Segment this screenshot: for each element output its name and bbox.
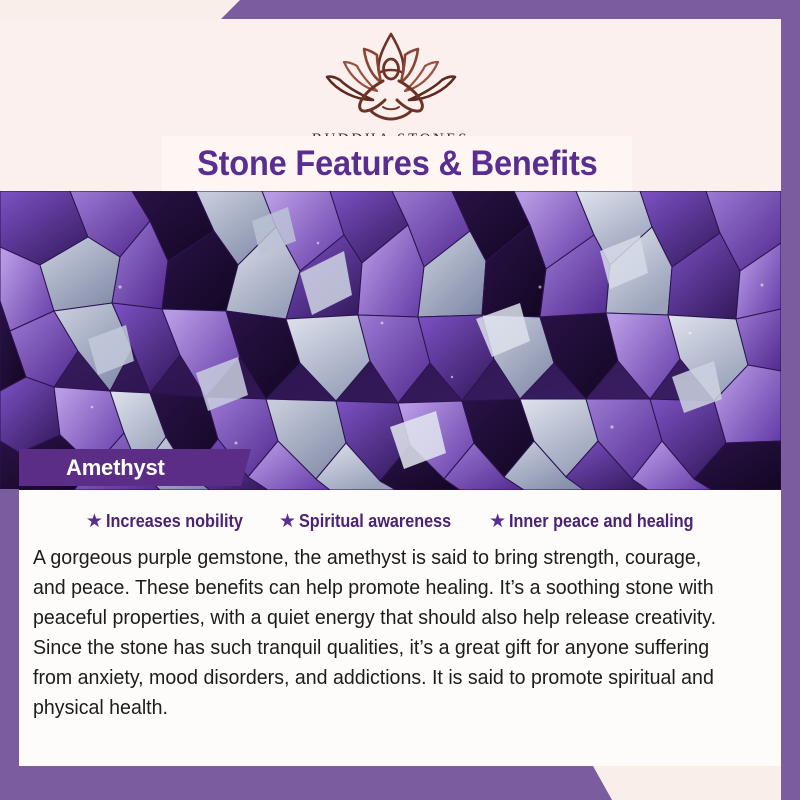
star-icon: ★ bbox=[279, 512, 296, 531]
stone-name: Amethyst bbox=[19, 455, 165, 481]
benefit-item: ★ Inner peace and healing bbox=[489, 511, 714, 532]
brand-logo: BUDDHA STONES bbox=[0, 25, 781, 148]
stone-name-banner: Amethyst bbox=[19, 449, 251, 486]
page-title: Stone Features & Benefits bbox=[197, 144, 598, 184]
crystal-illustration bbox=[0, 191, 781, 490]
benefits-list: ★ Increases nobility ★ Spiritual awarene… bbox=[19, 490, 781, 532]
content-section: ★ Increases nobility ★ Spiritual awarene… bbox=[19, 490, 781, 766]
top-accent-band bbox=[0, 0, 800, 19]
title-plate: Stone Features & Benefits bbox=[162, 136, 632, 191]
benefit-item: ★ Spiritual awareness bbox=[279, 511, 468, 532]
left-accent-band bbox=[0, 489, 19, 800]
star-icon: ★ bbox=[86, 512, 103, 531]
lotus-meditation-icon bbox=[311, 25, 471, 129]
right-accent-band bbox=[781, 0, 800, 800]
benefit-label: Spiritual awareness bbox=[299, 511, 451, 532]
bottom-accent-band bbox=[0, 766, 800, 800]
stone-infographic-card: BUDDHA STONES Stone Features & Benefits bbox=[0, 0, 800, 800]
benefit-item: ★ Increases nobility bbox=[86, 511, 258, 532]
star-icon: ★ bbox=[489, 512, 506, 531]
amethyst-crystal-cluster-photo bbox=[0, 191, 781, 490]
benefit-label: Inner peace and healing bbox=[509, 511, 694, 532]
stone-description: A gorgeous purple gemstone, the amethyst… bbox=[33, 543, 735, 723]
benefit-label: Increases nobility bbox=[106, 511, 243, 532]
